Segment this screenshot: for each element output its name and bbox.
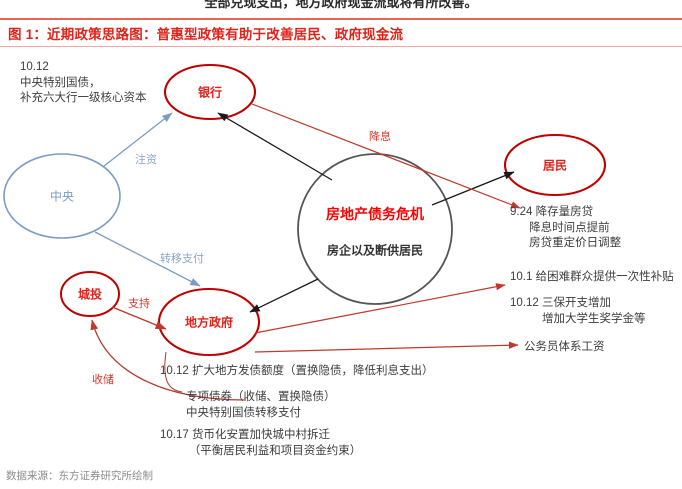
edge-label-support: 支持 xyxy=(128,295,150,311)
node-bank-label: 银行 xyxy=(198,84,222,101)
annotation-monetized: 10.17 货币化安置加快城中村拆迁 （平衡居民利益和项目资金约束） xyxy=(160,428,361,459)
annotation-residents-policy: 9.24 降存量房贷 降息时间点提前 房贷重定价日调整 xyxy=(510,205,621,252)
edge-label-transfer-payment: 转移支付 xyxy=(160,250,204,266)
edge-crisis-to-residents xyxy=(432,172,514,205)
node-central-label: 中央 xyxy=(50,188,74,205)
edge-label-rate-cut: 降息 xyxy=(369,128,391,144)
annotation-subsidy: 10.1 给困难群众提供一次性补贴 xyxy=(510,270,674,286)
annotation-special-bonds: 专项债券（收储、置换隐债） 中央特别国债转移支付 xyxy=(186,390,336,421)
node-local-gov-label: 地方政府 xyxy=(185,314,233,331)
source-note: 数据来源：东方证券研究所绘制 xyxy=(6,468,153,483)
annotation-local-debt: 10.12 扩大地方发债额度（置换隐债，降低利息支出） xyxy=(160,364,433,380)
edge-label-inject-capital: 注资 xyxy=(135,151,157,167)
edge-storage-to-chengtou xyxy=(92,320,246,400)
annotation-civil-salary: 公务员体系工资 xyxy=(524,340,605,356)
node-residents-label: 居民 xyxy=(543,157,567,174)
annotation-central-bond: 10.12 中央特别国债， 补充六大行一级核心资本 xyxy=(20,60,147,107)
annotation-sanbao: 10.12 三保开支增加 增加大学生奖学金等 xyxy=(510,296,645,327)
edge-crisis-to-localgov xyxy=(250,279,318,312)
node-crisis-title: 房地产债务危机 xyxy=(326,204,424,224)
node-crisis[interactable] xyxy=(298,154,452,304)
node-crisis-subtitle: 房企以及断供居民 xyxy=(327,242,423,259)
edge-label-storage: 收储 xyxy=(92,371,114,387)
edge-crisis-to-bank xyxy=(218,113,332,180)
node-chengtou-label: 城投 xyxy=(78,286,102,303)
edge-localgov-to-salary xyxy=(255,345,518,352)
edge-localgov-to-subsidy xyxy=(255,285,505,333)
